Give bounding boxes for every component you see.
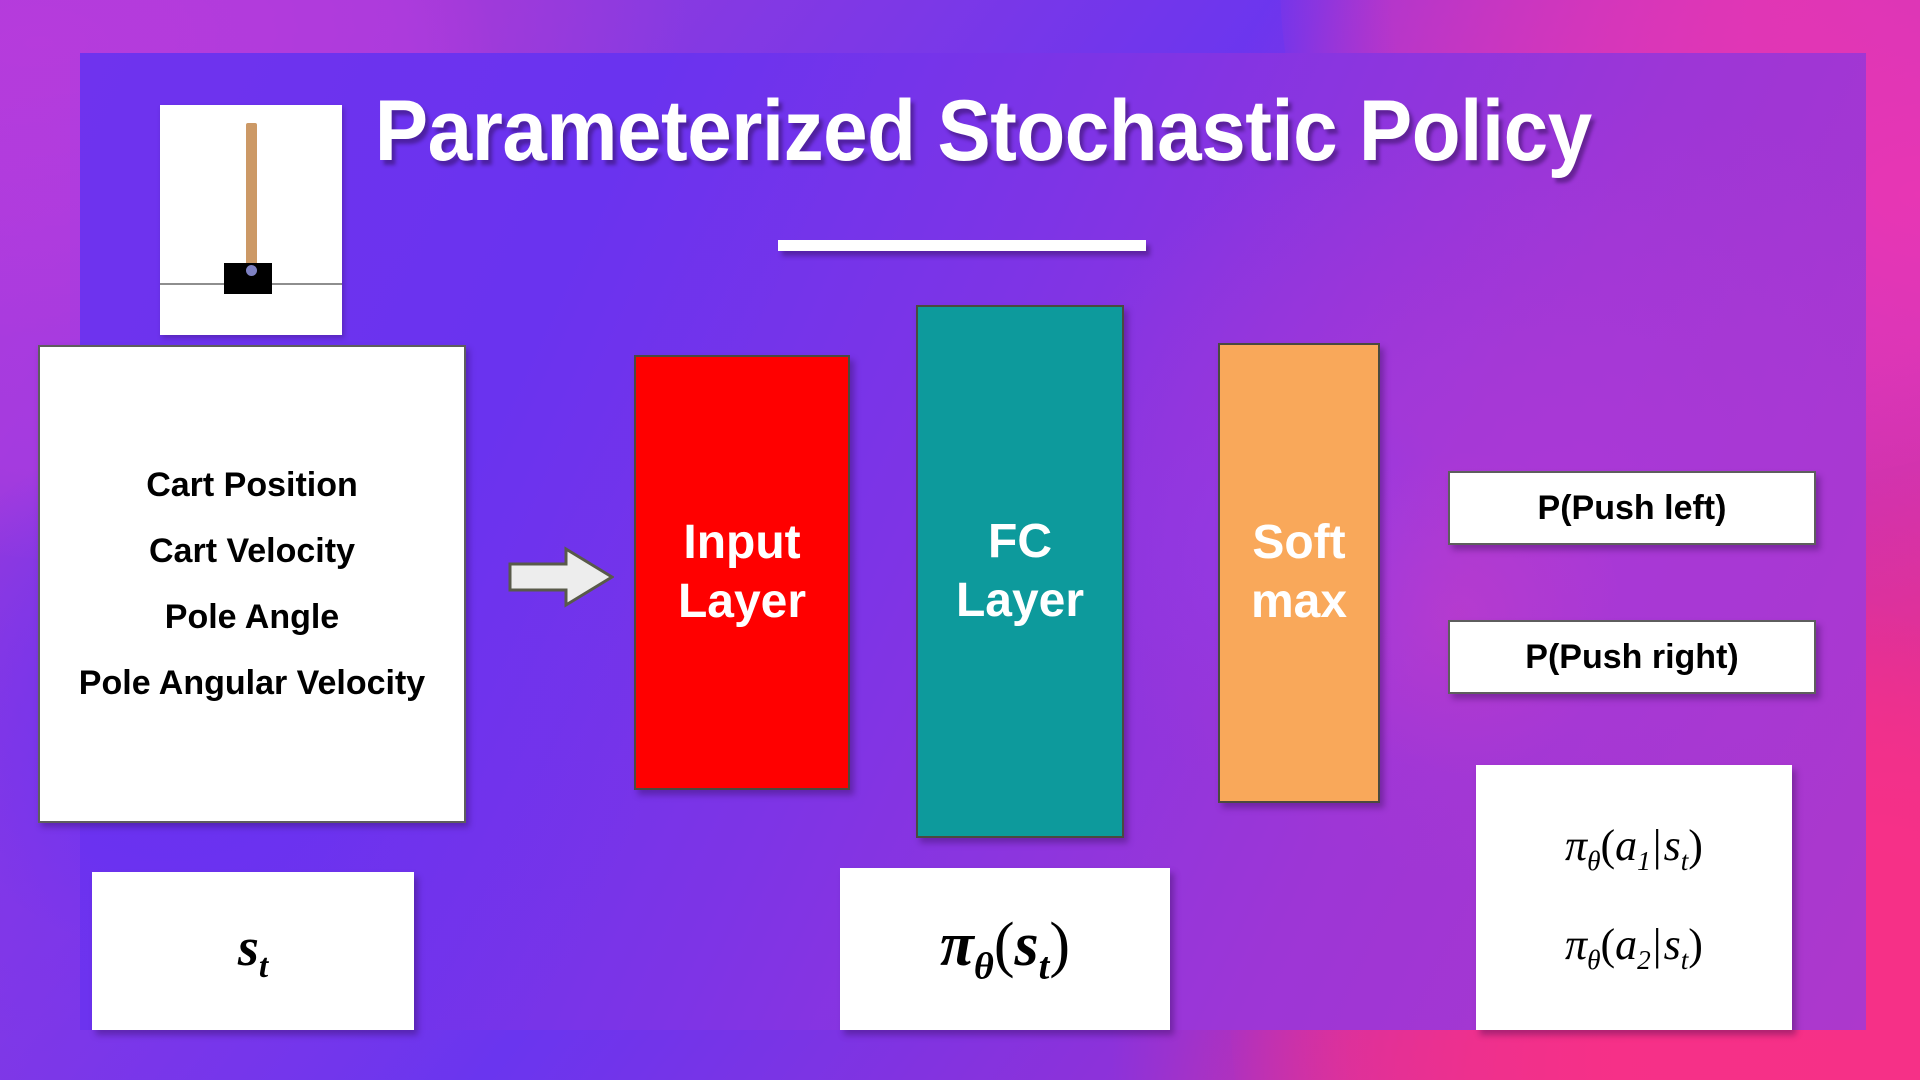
math-action-distribution: πθ(a1|st) πθ(a2|st) (1476, 765, 1792, 1030)
math-policy-s: s (1014, 911, 1038, 979)
output-push-right: P(Push right) (1448, 620, 1816, 694)
math-theta-a2: θ (1587, 944, 1600, 974)
math-s-a1: s (1664, 821, 1681, 870)
feature-cart-position: Cart Position (62, 465, 442, 505)
math-a1: a (1615, 821, 1637, 870)
math-s-a2: s (1664, 920, 1681, 969)
layer-fc[interactable]: FC Layer (916, 305, 1124, 838)
math-action-2: πθ(a2|st) (1565, 919, 1703, 976)
cartpole-axle-dot (246, 265, 257, 276)
state-features-panel: Cart Position Cart Velocity Pole Angle P… (38, 345, 466, 823)
math-open-paren-a2: ( (1600, 920, 1615, 969)
math-s-subscript: t (259, 948, 268, 985)
math-bar-a2: | (1651, 920, 1664, 969)
math-pi: π (940, 911, 974, 979)
slide-canvas: Parameterized Stochastic Policy Cart Pos… (0, 0, 1920, 1080)
cartpole-pole (246, 123, 257, 271)
math-close-paren-a2: ) (1688, 920, 1703, 969)
math-pi-a1: π (1565, 821, 1587, 870)
math-close-paren: ) (1049, 911, 1070, 979)
layer-softmax[interactable]: Soft max (1218, 343, 1380, 803)
math-action-1: πθ(a1|st) (1565, 820, 1703, 877)
math-policy-expression: πθ(st) (840, 868, 1170, 1030)
feature-cart-velocity: Cart Velocity (62, 531, 442, 571)
cartpole-render (160, 105, 342, 335)
math-state-symbol: st (92, 872, 414, 1030)
feature-pole-angle: Pole Angle (62, 597, 442, 637)
title-underline-rule (778, 240, 1146, 251)
math-open-paren: ( (994, 911, 1015, 979)
math-a2: a (1615, 920, 1637, 969)
page-title: Parameterized Stochastic Policy (375, 86, 1565, 176)
right-arrow-icon (508, 546, 614, 608)
math-theta: θ (974, 945, 994, 987)
math-open-paren-a1: ( (1600, 821, 1615, 870)
math-theta-a1: θ (1587, 846, 1600, 876)
feature-pole-angular-velocity: Pole Angular Velocity (62, 663, 442, 703)
math-s: s (238, 917, 259, 977)
math-close-paren-a1: ) (1688, 821, 1703, 870)
math-bar-a1: | (1651, 821, 1664, 870)
math-pi-a2: π (1565, 920, 1587, 969)
layer-input[interactable]: Input Layer (634, 355, 850, 790)
math-a2-subscript: 2 (1637, 944, 1651, 974)
output-push-left: P(Push left) (1448, 471, 1816, 545)
math-a1-subscript: 1 (1637, 846, 1651, 876)
math-policy-s-subscript: t (1039, 945, 1050, 987)
